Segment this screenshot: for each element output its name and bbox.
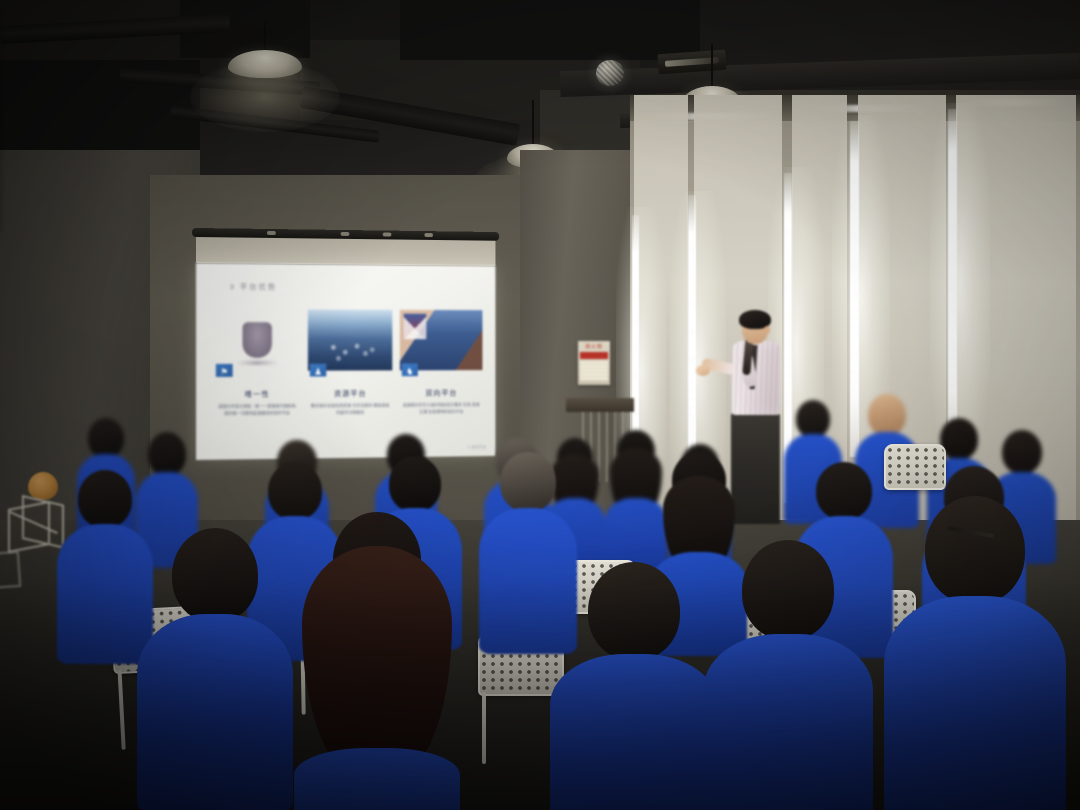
column-badge-icon: ⚑ [216,364,233,377]
slide-column-heading: 唯一性 [214,388,300,399]
slide-column-body: 英国大学官方授权 · 唯一一家独家代理机构 国内唯一可提供此类服务的合作平台 [214,403,300,417]
slide-column: ♟ 资源平台 整合海外名校优质资源 为学员提供 精准高效的留学对接服务 [308,304,392,447]
disco-ball-icon [596,60,624,86]
slide-column-heading: 双向平台 [400,387,483,398]
slide-column-body: 整合海外名校优质资源 为学员提供 精准高效的留学对接服务 [308,403,392,417]
audience-member [718,540,858,810]
slide-column-heading: 资源平台 [308,388,392,399]
audience-member [564,562,704,810]
slide-column-body: 连接国内学生与海外院校双方需求 实现 资源互通 信息透明的双向平台 [400,402,483,416]
audience-member [62,470,148,650]
column-badge-icon: ♟ [310,364,326,377]
presenter-hand [696,365,710,376]
long-hair [302,546,452,776]
projection-screen: 3 平台优势 ⚑ 唯一性 英国大学官方授权 · 唯一一家独家代理机构 国内唯一可… [196,228,495,460]
window-light-slit [948,109,957,453]
slide-columns: ⚑ 唯一性 英国大学官方授权 · 唯一一家独家代理机构 国内唯一可提供此类服务的… [214,303,483,448]
university-crest-icon: ⚑ [214,303,300,377]
fire-safety-title: 消火栓 [578,341,610,352]
slide-content: 3 平台优势 ⚑ 唯一性 英国大学官方授权 · 唯一一家独家代理机构 国内唯一可… [196,263,495,460]
coastline-photo: ♟ [308,304,392,377]
audience-member [900,496,1050,810]
slide-column: ⚑ 唯一性 英国大学官方授权 · 唯一一家独家代理机构 国内唯一可提供此类服务的… [214,303,300,448]
handshake-photo: ♞ [400,304,483,376]
slide-title: 3 平台优势 [230,281,277,292]
slide-footer: © 合作平台 [468,444,487,450]
wireframe-cube [8,495,66,557]
column-badge-icon: ♞ [402,363,418,376]
audience-member [150,528,280,810]
audience-member [302,512,452,810]
audience-member [484,452,572,636]
pendant-lamp [220,22,310,82]
fire-safety-notice: 消火栓 [578,341,610,385]
seminar-room-photo: 3 平台优势 ⚑ 唯一性 英国大学官方授权 · 唯一一家独家代理机构 国内唯一可… [0,0,1080,810]
screen-top-border [196,237,495,266]
wireframe-cube-small [0,551,21,589]
podium-counter [566,398,634,412]
slide-column: ♞ 双向平台 连接国内学生与海外院校双方需求 实现 资源互通 信息透明的双向平台 [400,304,483,446]
